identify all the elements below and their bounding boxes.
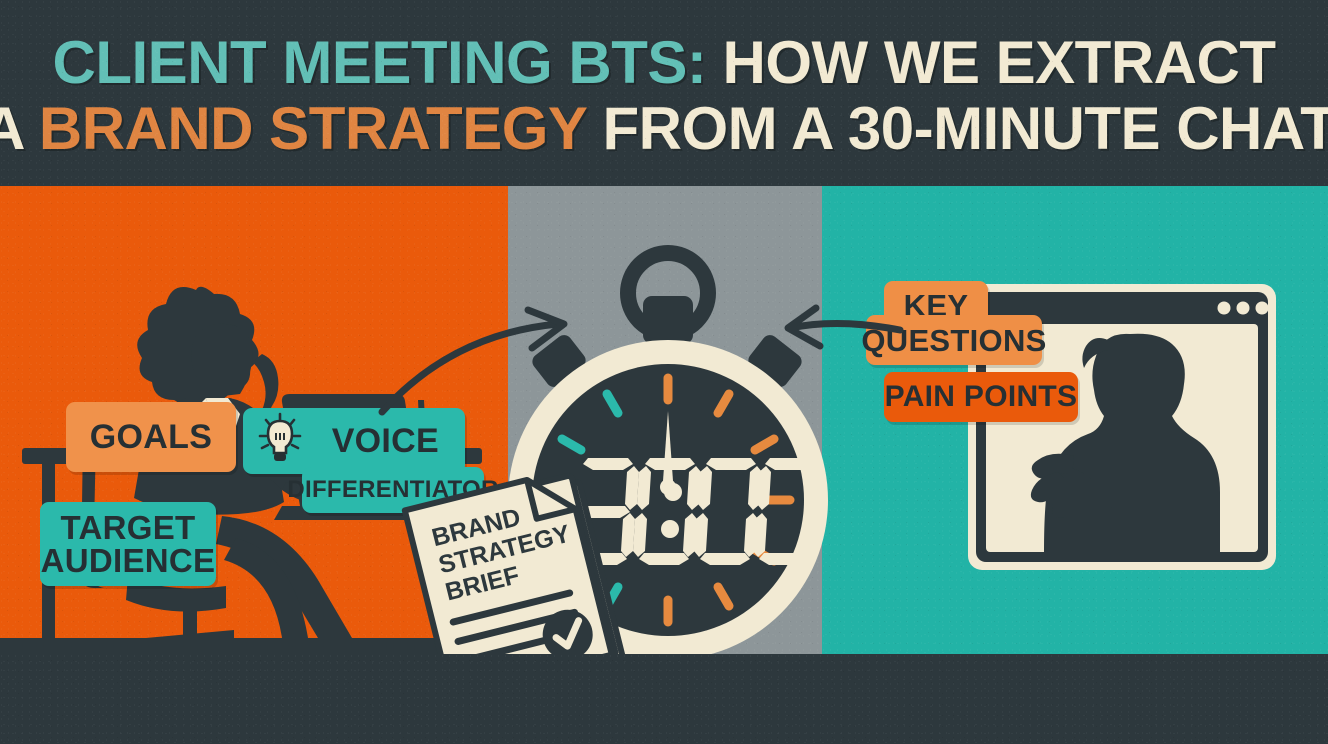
- tag-differentiator-label: DIFFERENTIATOR: [287, 478, 498, 502]
- footer-bar: [0, 654, 1328, 744]
- header-banner: CLIENT MEETING BTS: HOW WE EXTRACT A BRA…: [0, 0, 1328, 186]
- title-line-2-suffix: FROM A 30-MINUTE CHAT.: [586, 95, 1328, 162]
- tag-questions-label: QUESTIONS: [861, 325, 1046, 356]
- infographic-canvas: CLIENT MEETING BTS: HOW WE EXTRACT A BRA…: [0, 0, 1328, 744]
- tag-goals[interactable]: GOALS: [66, 402, 236, 472]
- tag-target-audience[interactable]: TARGET AUDIENCE: [40, 502, 216, 586]
- title-line-1: CLIENT MEETING BTS: HOW WE EXTRACT: [53, 34, 1276, 92]
- tag-differentiator[interactable]: DIFFERENTIATOR: [302, 467, 484, 513]
- center-panel-texture: [508, 186, 822, 654]
- tag-target-audience-line2: AUDIENCE: [41, 544, 216, 577]
- title-line-2: A BRAND STRATEGY FROM A 30-MINUTE CHAT.: [0, 100, 1328, 158]
- right-panel-client: KEY QUESTIONS PAIN POINTS: [822, 186, 1328, 654]
- title-line-2-prefix: A: [0, 95, 39, 162]
- tag-pain-points[interactable]: PAIN POINTS: [884, 372, 1078, 422]
- tag-goals-label: GOALS: [90, 420, 212, 454]
- window-dots-icon: [1218, 302, 1269, 315]
- tag-questions[interactable]: QUESTIONS: [866, 315, 1042, 365]
- tag-voice-label: VOICE: [332, 424, 439, 458]
- left-panel-workspace: GOALS VOICE DIFFE: [0, 186, 508, 654]
- lightbulb-icon: [258, 412, 302, 464]
- title-line-1-rest: HOW WE EXTRACT: [706, 29, 1275, 96]
- tag-pain-points-label: PAIN POINTS: [885, 382, 1078, 412]
- center-panel-timer: [508, 186, 822, 654]
- panel-row: GOALS VOICE DIFFE: [0, 186, 1328, 654]
- title-highlight-orange: BRAND STRATEGY: [39, 95, 586, 162]
- title-highlight-teal: CLIENT MEETING BTS:: [53, 29, 707, 96]
- tag-target-audience-line1: TARGET: [60, 511, 195, 544]
- footer-texture: [0, 654, 1328, 744]
